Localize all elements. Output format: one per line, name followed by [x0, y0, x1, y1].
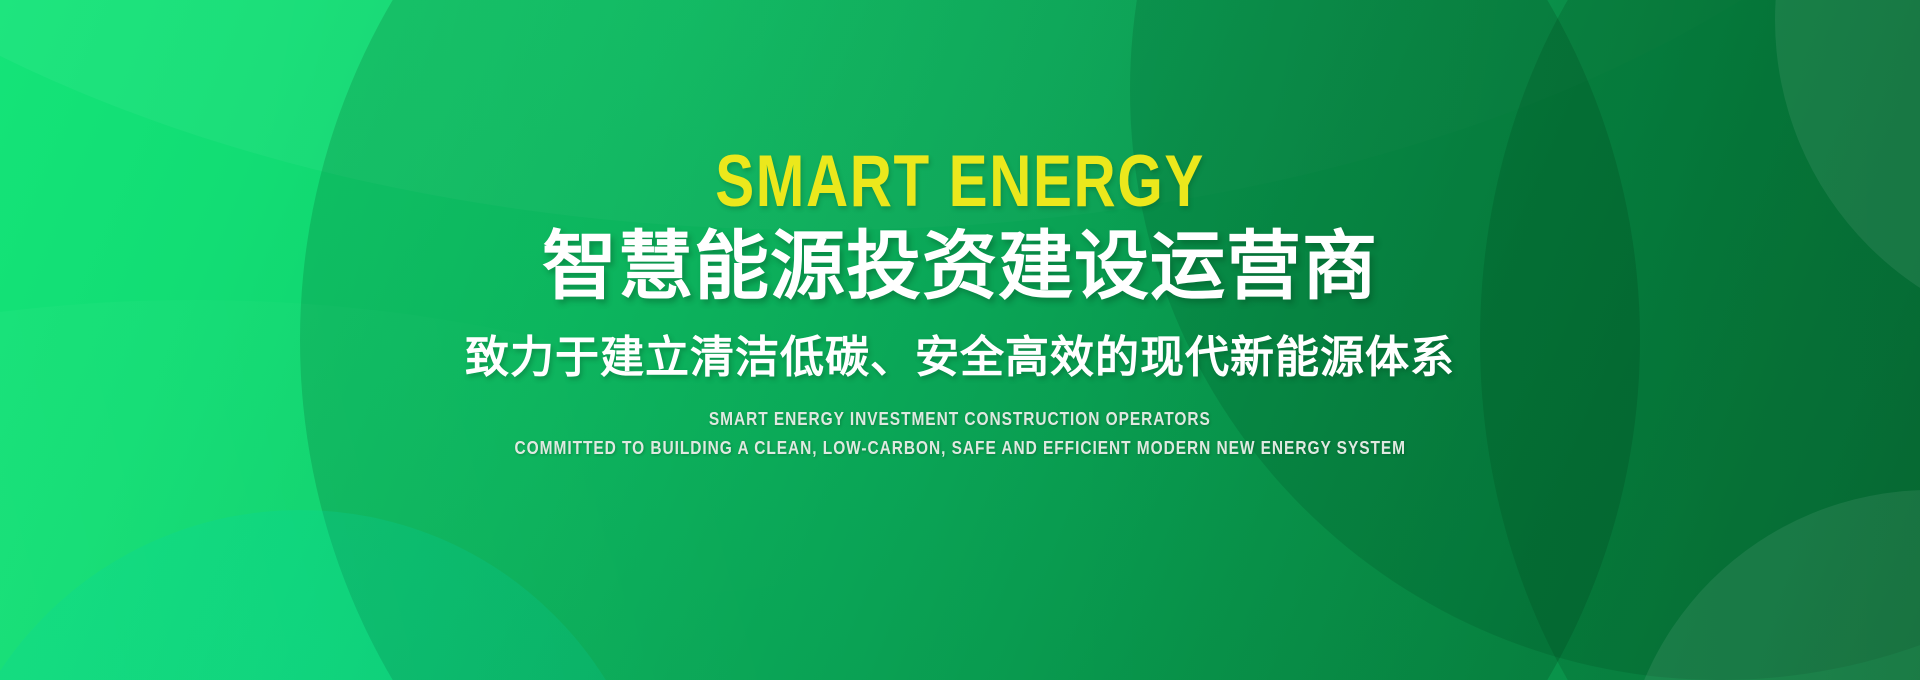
caption-line-2: COMMITTED TO BUILDING A CLEAN, LOW-CARBO… — [514, 439, 1405, 457]
caption-line-1: SMART ENERGY INVESTMENT CONSTRUCTION OPE… — [709, 410, 1211, 428]
subheadline-chinese: 致力于建立清洁低碳、安全高效的现代新能源体系 — [465, 336, 1455, 380]
headline-chinese: 智慧能源投资建设运营商 — [542, 229, 1378, 304]
hero-banner: SMART ENERGY 智慧能源投资建设运营商 致力于建立清洁低碳、安全高效的… — [0, 0, 1920, 680]
hero-text-block: SMART ENERGY 智慧能源投资建设运营商 致力于建立清洁低碳、安全高效的… — [0, 0, 1920, 680]
headline-english: SMART ENERGY — [715, 148, 1205, 215]
